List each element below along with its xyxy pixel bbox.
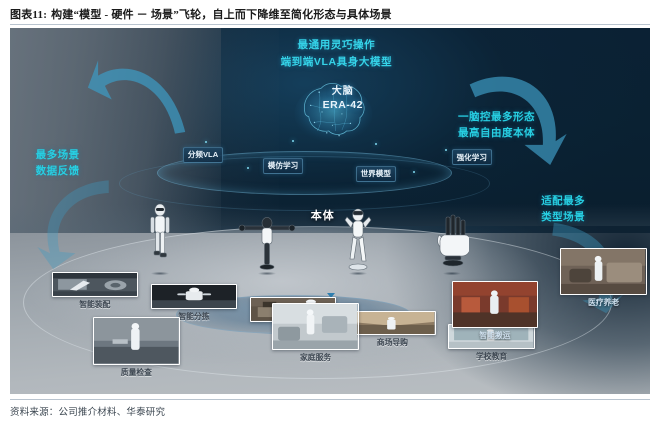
scene-card-label: 智能搬运 bbox=[479, 330, 510, 341]
exhibit-header: 图表11:构建“模型 - 硬件 － 场景”飞轮，自上而下降维至简化形态与具体场景 bbox=[10, 6, 650, 22]
scene-card-smart-transport[interactable]: 智能搬运 bbox=[452, 281, 538, 329]
scene-thumbnail bbox=[93, 317, 179, 365]
source-note: 资料来源：公司推介材料、华泰研究 bbox=[10, 404, 165, 418]
scene-card-quality-check[interactable]: 质量检查 bbox=[93, 317, 179, 365]
figure-canvas: 最通用灵巧操作 端到端VLA具身大模型 bbox=[10, 28, 650, 394]
page-title: 构建“模型 - 硬件 － 场景”飞轮，自上而下降维至简化形态与具体场景 bbox=[51, 9, 392, 21]
scene-card-row-right: 质量检查 家庭服务 bbox=[10, 28, 650, 394]
scene-card-label: 医疗养老 bbox=[588, 297, 619, 308]
source-divider bbox=[10, 399, 650, 400]
scene-card-medical-eldercare[interactable]: 医疗养老 bbox=[560, 248, 646, 296]
scene-card-home-service[interactable]: 家庭服务 bbox=[272, 303, 358, 351]
scene-card-label: 家庭服务 bbox=[300, 352, 331, 363]
scene-thumbnail bbox=[452, 281, 538, 329]
scene-thumbnail bbox=[272, 303, 358, 351]
scene-thumbnail bbox=[560, 248, 646, 296]
scene-card-label: 质量检查 bbox=[121, 367, 152, 378]
exhibit-number: 图表11: bbox=[10, 9, 47, 21]
exhibit-page: 图表11:构建“模型 - 硬件 － 场景”飞轮，自上而下降维至简化形态与具体场景… bbox=[0, 0, 660, 422]
header-divider bbox=[10, 24, 650, 25]
